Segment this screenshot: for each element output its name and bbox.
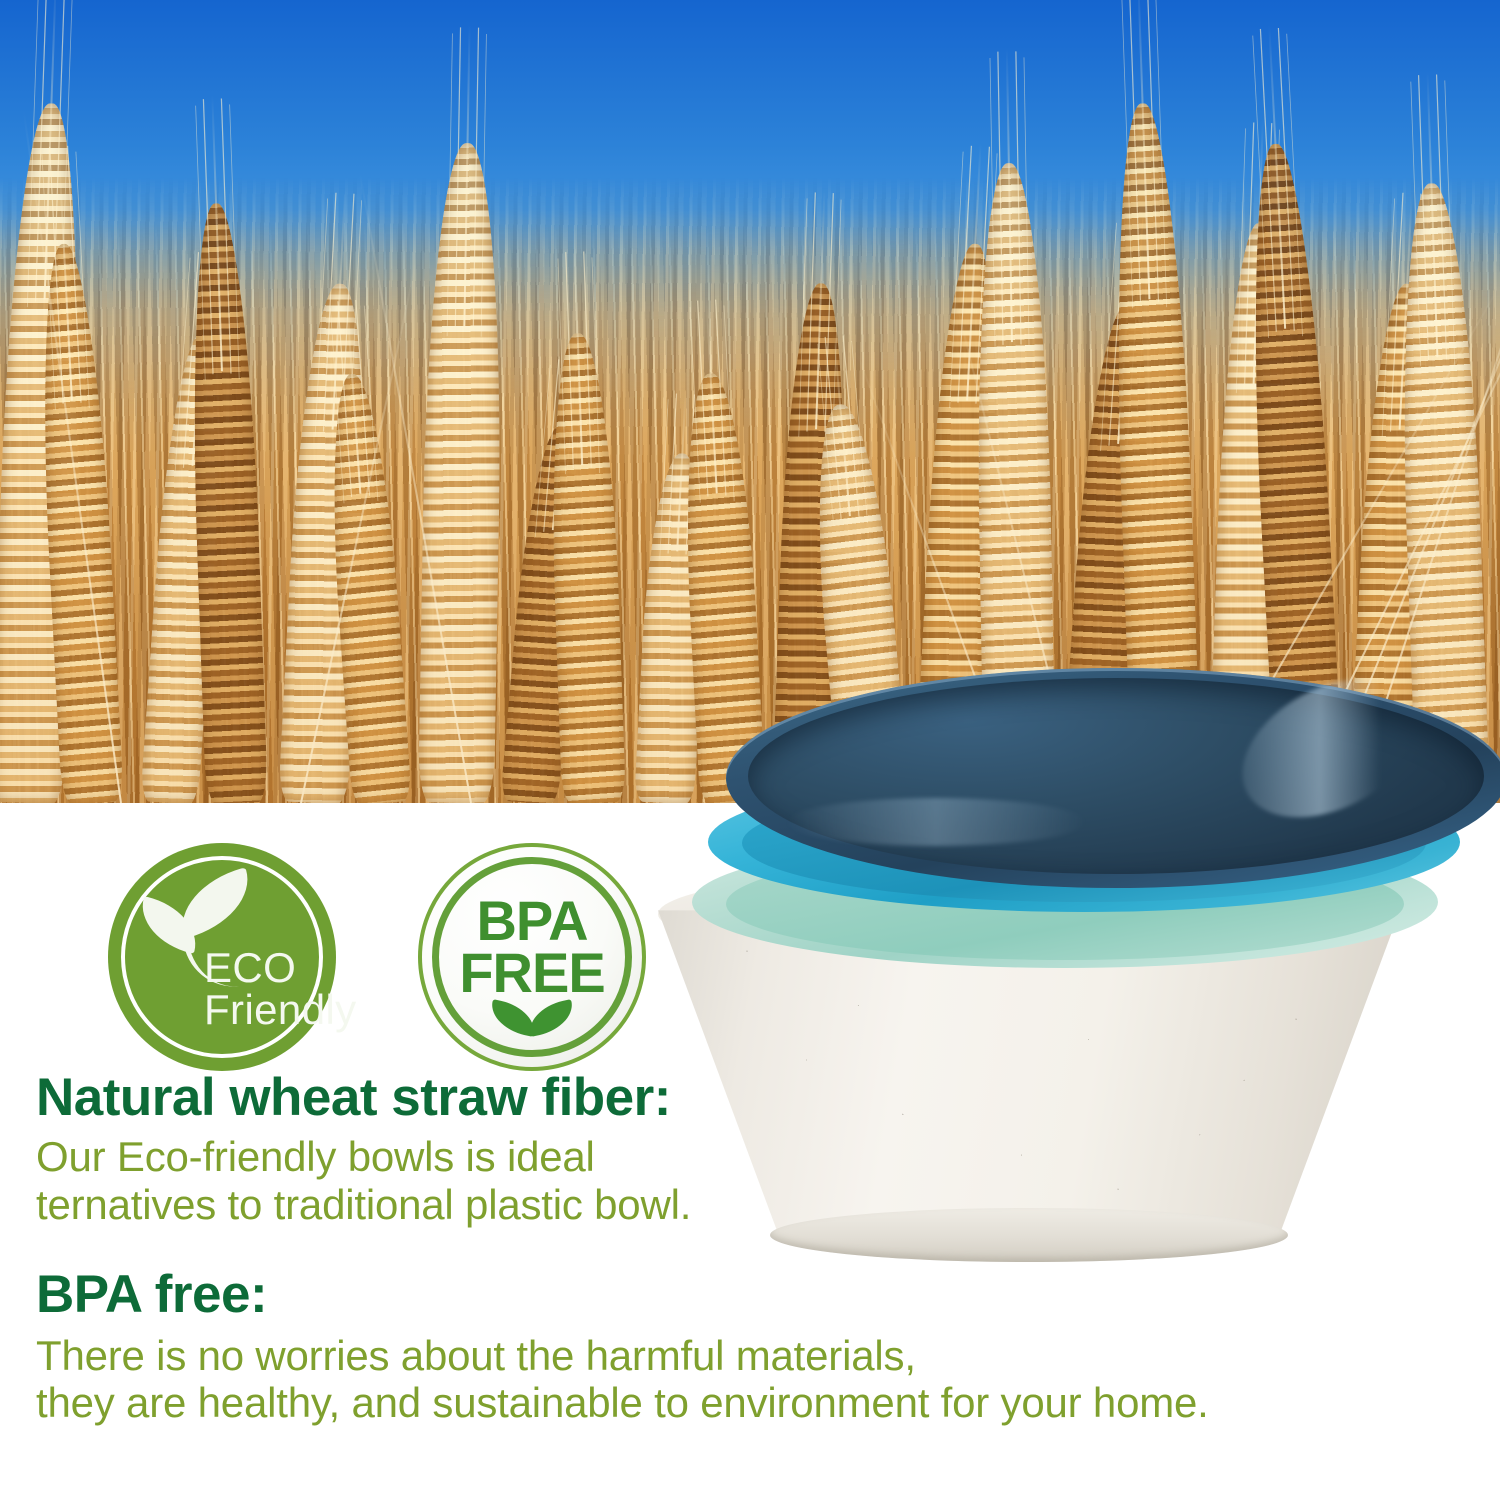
badge-row: ECO Friendly BPA FREE [108, 843, 646, 1071]
copy-block-bpa-free: BPA free: There is no worries about the … [36, 1268, 1456, 1427]
eco-friendly-badge: ECO Friendly [108, 843, 336, 1071]
bowl-navy-rim-edge [726, 668, 1500, 888]
bpa-badge-line2: FREE [418, 947, 646, 999]
bpa-badge-text: BPA FREE [418, 895, 646, 999]
bowl-cream-foot-ring [770, 1208, 1288, 1262]
bpa-free-heading: BPA free: [36, 1268, 1456, 1322]
leaf-right-icon [526, 999, 577, 1037]
bpa-badge-line1: BPA [418, 895, 646, 947]
eco-badge-line2: Friendly [204, 989, 328, 1031]
bowl-navy [726, 668, 1500, 918]
bpa-free-badge: BPA FREE [418, 843, 646, 1071]
eco-badge-line1: ECO [204, 947, 328, 989]
bpa-free-line-2: they are healthy, and sustainable to env… [36, 1379, 1456, 1426]
two-leaves-icon [490, 999, 576, 1039]
bpa-free-line-1: There is no worries about the harmful ma… [36, 1332, 1456, 1379]
eco-badge-text: ECO Friendly [204, 947, 328, 1030]
stacked-wheat-straw-bowls [636, 668, 1476, 1268]
